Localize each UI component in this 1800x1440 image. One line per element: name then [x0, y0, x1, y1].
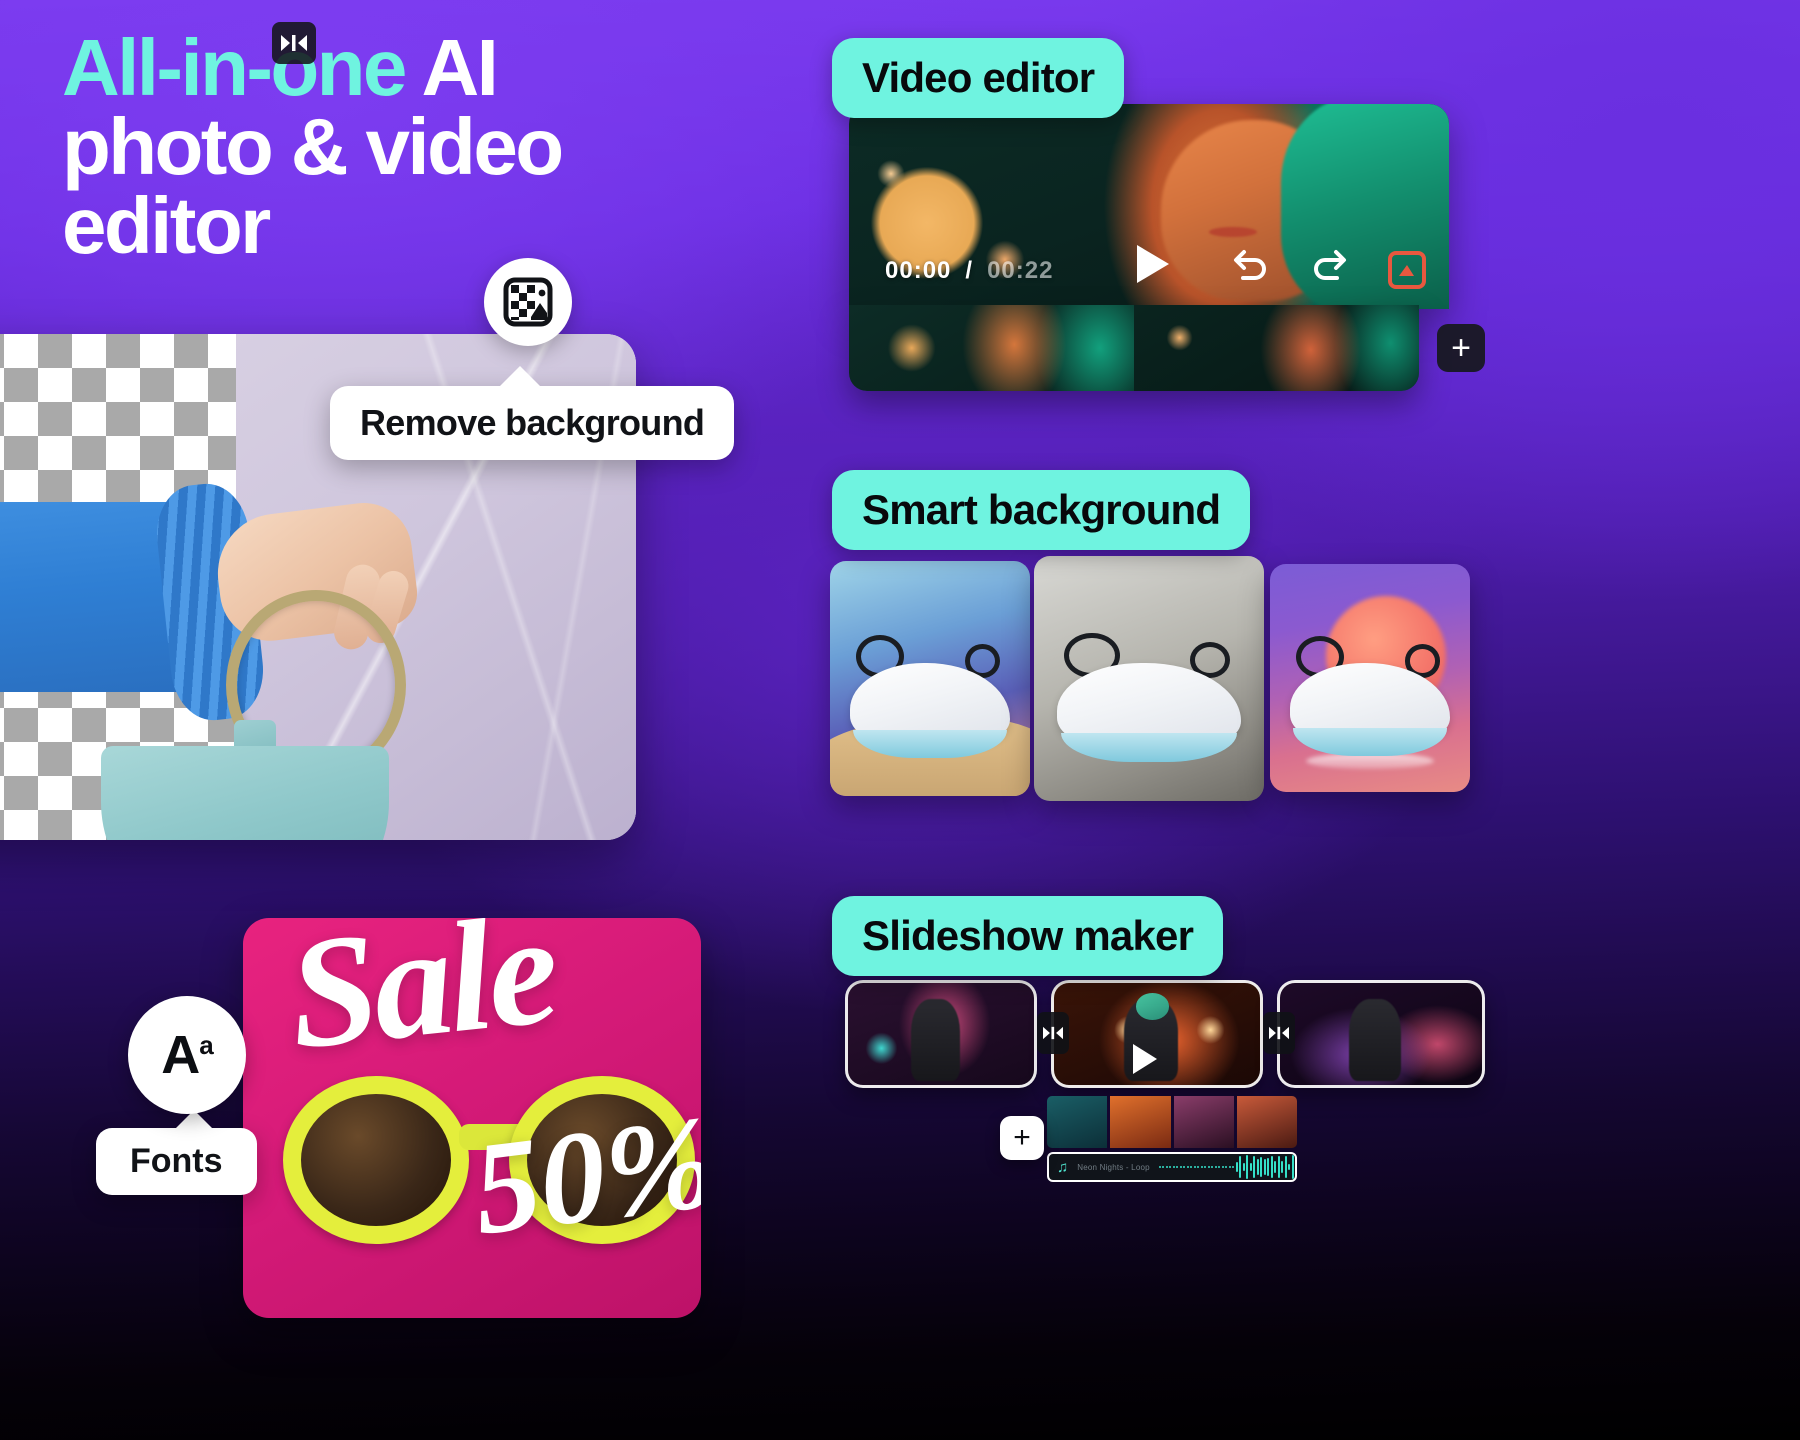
filmstrip-frame[interactable]: [1047, 1096, 1107, 1148]
waveform-bar: [1267, 1158, 1269, 1177]
page-title: All-in-one AI photo & video editor: [62, 28, 752, 266]
waveform-bar: [1176, 1166, 1178, 1168]
waveform-bar: [1271, 1156, 1273, 1178]
badge-video-editor: Video editor: [832, 38, 1124, 118]
redo-icon[interactable]: [1309, 246, 1351, 291]
promo-canvas: All-in-one AI photo & video editor: [0, 0, 1800, 1440]
sneaker: [1290, 651, 1450, 756]
waveform-bar: [1285, 1156, 1287, 1179]
audio-track[interactable]: ♫ Neon Nights - Loop: [1047, 1152, 1297, 1182]
crop-icon[interactable]: [1387, 250, 1427, 295]
waveform-bar: [1180, 1166, 1182, 1168]
waveform-bar: [1162, 1166, 1164, 1169]
waveform-bar: [1194, 1166, 1196, 1169]
filmstrip-frame[interactable]: [1110, 1096, 1170, 1148]
waveform-bar: [1281, 1161, 1283, 1172]
fonts-tooltip-label: Fonts: [130, 1142, 223, 1180]
splice-transition-icon[interactable]: [272, 22, 316, 64]
teal-handbag: [101, 746, 389, 840]
waveform-bar: [1187, 1166, 1189, 1169]
sneaker-thumbnail-studio[interactable]: [1034, 556, 1264, 801]
splice-transition-icon[interactable]: [1263, 1012, 1295, 1054]
headline-accent: All-in-one: [62, 23, 405, 112]
performer-silhouette: [911, 999, 959, 1081]
slideshow-filmstrip[interactable]: [1047, 1096, 1297, 1148]
slideshow-add-media-label: +: [1013, 1123, 1031, 1153]
sneaker: [1057, 649, 1241, 762]
performer-head: [1136, 993, 1169, 1020]
waveform-bar: [1166, 1166, 1168, 1168]
timeline-clip[interactable]: [849, 305, 1134, 391]
video-timecode: 00:00 / 00:22: [885, 257, 1053, 285]
badge-slideshow-maker: Slideshow maker: [832, 896, 1223, 976]
waveform-bar: [1264, 1159, 1266, 1175]
music-note-icon: ♫: [1057, 1160, 1068, 1175]
waveform-bar: [1204, 1166, 1206, 1168]
sneaker-sole: [853, 730, 1007, 758]
waveform-bar: [1197, 1166, 1199, 1168]
waveform-bar: [1274, 1161, 1276, 1172]
total-time: 00:22: [987, 257, 1053, 285]
waveform-bar: [1257, 1159, 1259, 1175]
time-separator: /: [965, 257, 973, 285]
waveform-bar: [1225, 1166, 1227, 1168]
smart-background-thumbnails: [830, 556, 1490, 801]
waveform-bar: [1246, 1155, 1248, 1179]
waveform-bar: [1250, 1163, 1252, 1171]
splice-transition-icon[interactable]: [1037, 1012, 1069, 1054]
filmstrip-frame[interactable]: [1174, 1096, 1234, 1148]
remove-background-icon[interactable]: [484, 258, 572, 346]
sunglasses-left-lens: [283, 1076, 469, 1244]
fonts-icon-glyph: Aa: [161, 1024, 212, 1086]
video-editor-preview[interactable]: 00:00 / 00:22: [849, 104, 1449, 309]
slideshow-add-media-button[interactable]: +: [1000, 1116, 1044, 1160]
waveform-bar: [1169, 1166, 1171, 1169]
sale-poster-card[interactable]: Sale 50%: [243, 918, 701, 1318]
slideshow-clip-row: [845, 980, 1485, 1088]
waveform-bar: [1232, 1166, 1234, 1169]
waveform-bar: [1183, 1166, 1185, 1168]
waveform-bar: [1229, 1166, 1231, 1168]
waveform-bar: [1260, 1157, 1262, 1177]
headline-line2: photo & video: [62, 102, 561, 191]
waveform-bar: [1288, 1164, 1290, 1170]
undo-icon[interactable]: [1229, 246, 1271, 291]
sale-headline-text: Sale: [282, 918, 627, 1075]
audio-waveform: [1159, 1156, 1297, 1178]
waveform-bar: [1292, 1155, 1294, 1179]
waveform-bar: [1236, 1162, 1238, 1173]
waveform-bar: [1159, 1166, 1161, 1168]
waveform-bar: [1218, 1166, 1220, 1168]
waveform-bar: [1239, 1156, 1241, 1177]
video-editor-timeline[interactable]: [849, 305, 1419, 391]
waveform-bar: [1278, 1156, 1280, 1179]
sneaker-pedestal: [1306, 753, 1434, 769]
video-add-clip-label: +: [1451, 331, 1471, 365]
current-time: 00:00: [885, 257, 951, 285]
waveform-bar: [1222, 1166, 1224, 1168]
play-icon[interactable]: [1133, 242, 1173, 291]
badge-slideshow-maker-label: Slideshow maker: [862, 912, 1193, 960]
sneaker: [850, 650, 1010, 758]
waveform-bar: [1208, 1166, 1210, 1169]
timeline-clip[interactable]: [1134, 305, 1419, 391]
waveform-bar: [1295, 1161, 1297, 1174]
headline-line3: editor: [62, 181, 269, 270]
waveform-bar: [1215, 1166, 1217, 1168]
headline-line1-rest: AI: [405, 23, 496, 112]
waveform-bar: [1201, 1166, 1203, 1169]
audio-track-label: Neon Nights - Loop: [1077, 1163, 1150, 1172]
waveform-bar: [1211, 1166, 1213, 1168]
play-icon[interactable]: [1130, 1042, 1160, 1081]
sneaker-sole: [1061, 733, 1238, 762]
fonts-tooltip: Fonts: [96, 1128, 257, 1195]
slideshow-clip[interactable]: [1277, 980, 1485, 1088]
waveform-bar: [1190, 1166, 1192, 1168]
waveform-bar: [1243, 1163, 1245, 1171]
filmstrip-frame[interactable]: [1237, 1096, 1297, 1148]
fonts-icon[interactable]: Aa: [128, 996, 246, 1114]
sneaker-sole: [1293, 728, 1447, 755]
badge-smart-background-label: Smart background: [862, 486, 1220, 534]
badge-smart-background: Smart background: [832, 470, 1250, 550]
sneaker-thumbnail-desert[interactable]: [830, 561, 1030, 796]
remove-background-tooltip-label: Remove background: [360, 402, 704, 443]
crowd-silhouette: [1349, 999, 1402, 1081]
remove-background-tooltip: Remove background: [330, 386, 734, 460]
waveform-bar: [1173, 1166, 1175, 1168]
waveform-bar: [1253, 1156, 1255, 1178]
sneaker-thumbnail-sunset[interactable]: [1270, 564, 1470, 792]
video-add-clip-button[interactable]: +: [1437, 324, 1485, 372]
badge-video-editor-label: Video editor: [862, 54, 1094, 102]
slideshow-clip[interactable]: [845, 980, 1037, 1088]
